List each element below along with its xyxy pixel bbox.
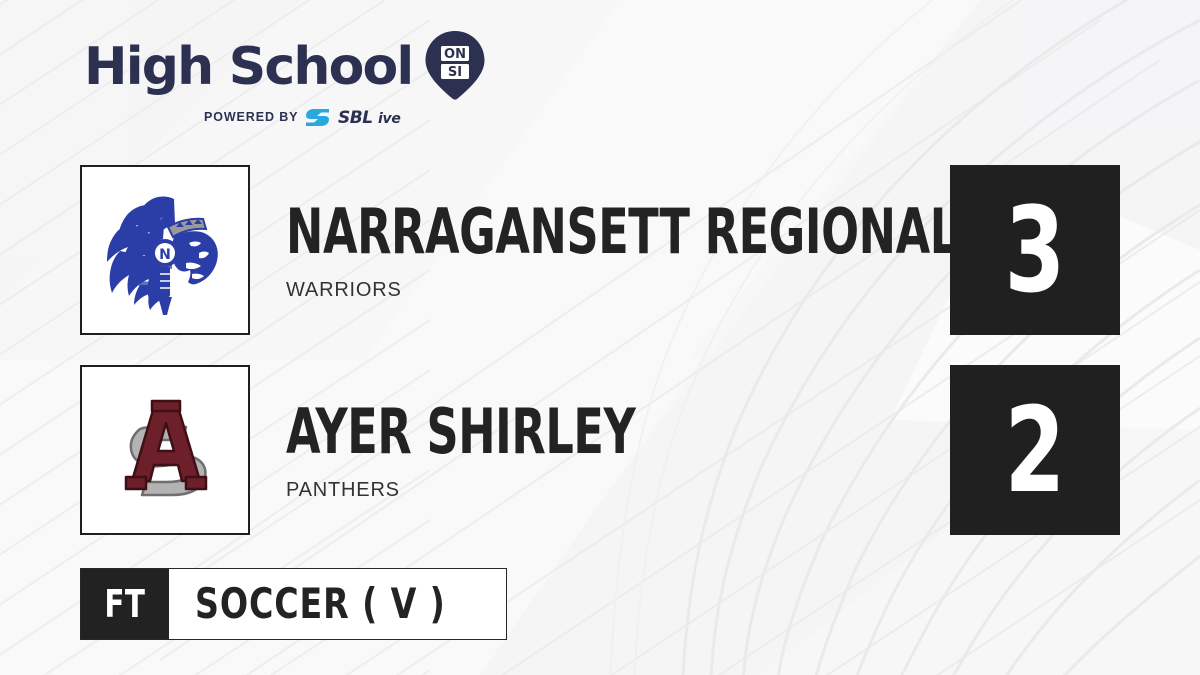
game-period-block: FT	[81, 569, 169, 639]
team-logo-box: N	[80, 165, 250, 335]
brand-header: High School ON SI POWERED BY SBL ive	[84, 36, 514, 132]
narragansett-warriors-chief-logo-icon: N	[96, 181, 234, 319]
on-si-pin-icon: ON SI	[422, 29, 488, 101]
brand-wordmark: High School ON SI	[84, 36, 514, 98]
game-status-bar: FT SOCCER ( V )	[80, 568, 507, 640]
sblive-wordmark-icon: SBL ive	[338, 107, 436, 127]
svg-text:ive: ive	[378, 111, 401, 127]
team-row: N NARRAGANSETT REGIONAL WARRIORS 3	[80, 165, 1120, 335]
team-score-box: 2	[950, 365, 1120, 535]
team-info: AYER SHIRLEY PANTHERS	[286, 365, 723, 535]
team-name: NARRAGANSETT REGIONAL	[286, 201, 958, 263]
team-mascot: PANTHERS	[286, 480, 723, 500]
team-score: 3	[1005, 191, 1066, 309]
game-sport-label: SOCCER ( V )	[195, 583, 446, 625]
svg-text:N: N	[159, 247, 171, 263]
svg-text:SI: SI	[448, 65, 462, 80]
powered-by-label: POWERED BY	[204, 110, 298, 124]
team-row: AYER SHIRLEY PANTHERS 2	[80, 365, 1120, 535]
scoreboard-graphic: High School ON SI POWERED BY SBL ive	[0, 0, 1200, 675]
team-logo-box	[80, 365, 250, 535]
team-score: 2	[1005, 391, 1066, 509]
team-score-box: 3	[950, 165, 1120, 335]
sblive-s-mark-icon	[305, 108, 331, 127]
game-sport-block: SOCCER ( V )	[169, 569, 506, 639]
game-period-label: FT	[104, 585, 145, 623]
svg-text:SBL: SBL	[338, 108, 373, 127]
ayer-shirley-panthers-as-monogram-logo-icon	[96, 381, 234, 519]
powered-by-lockup: POWERED BY SBL ive	[84, 107, 514, 127]
brand-wordmark-text: High School	[84, 41, 412, 93]
svg-text:ON: ON	[445, 47, 467, 62]
team-name: AYER SHIRLEY	[286, 401, 635, 463]
